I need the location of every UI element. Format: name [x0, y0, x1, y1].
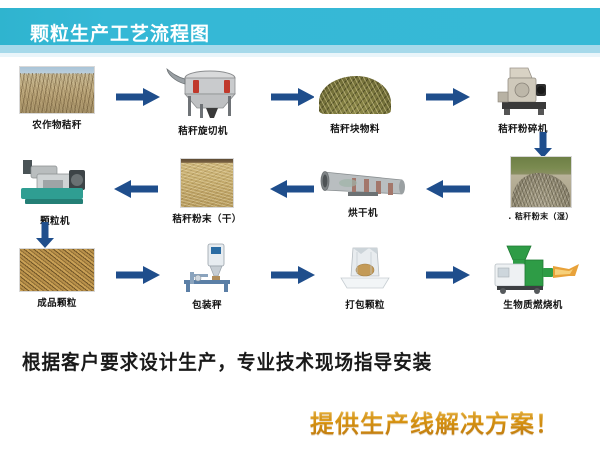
arrow-right-5	[271, 266, 315, 284]
flow-step-label: 打包颗粒	[310, 297, 420, 311]
flow-step-dryer: 烘干机	[308, 166, 418, 219]
straw-cutter-image	[162, 62, 244, 120]
flow-step-label: 秸秆粉末（干）	[152, 211, 262, 225]
flow-step-pellet-mill: 颗粒机	[0, 158, 110, 227]
dryer-image	[318, 166, 408, 202]
flow-step-finished-pellets: 成品颗粒	[2, 248, 112, 309]
arrow-right-6	[426, 266, 470, 284]
flow-step-dry-straw-powder: 秸秆粉末（干）	[152, 158, 262, 225]
flow-step-packing-scale: 包装秤	[152, 242, 262, 311]
flow-step-straw-crusher: 秸秆粉碎机	[468, 62, 578, 135]
flow-step-wet-straw-powder: . 秸秆粉末（湿）	[486, 156, 596, 222]
packed-pellets-image	[327, 242, 403, 294]
flow-step-straw-cutter: 秸秆旋切机	[148, 62, 258, 137]
footer-slogan: 提供生产线解决方案！	[310, 404, 590, 439]
arrow-right-3	[426, 88, 470, 106]
wet-straw-powder-image	[510, 156, 572, 208]
pellet-mill-image	[13, 158, 97, 210]
arrow-down-1	[534, 132, 552, 158]
arrow-down-2	[36, 222, 54, 248]
flow-step-label: 烘干机	[308, 205, 418, 219]
crop-straw-image	[19, 66, 95, 114]
page-title: 颗粒生产工艺流程图	[30, 19, 210, 46]
flow-step-label: 颗粒机	[0, 213, 110, 227]
flow-step-label: 生物质燃烧机	[478, 297, 588, 311]
flow-step-label: 包装秤	[152, 297, 262, 311]
straw-crusher-image	[484, 62, 562, 118]
flow-step-label: . 秸秆粉末（湿）	[486, 211, 596, 222]
arrow-left-1	[426, 180, 470, 198]
page-header-banner: 颗粒生产工艺流程图	[0, 8, 600, 45]
header-underline-shadow	[0, 53, 600, 57]
finished-pellets-image	[19, 248, 95, 292]
flow-step-label: 秸秆旋切机	[148, 123, 258, 137]
flow-step-label: 秸秆块物料	[300, 121, 410, 135]
flow-step-biomass-burner: 生物质燃烧机	[478, 244, 588, 311]
packing-scale-image	[168, 242, 246, 294]
biomass-burner-image	[485, 244, 581, 294]
flow-step-label: 农作物秸秆	[2, 117, 112, 131]
flow-step-label: 成品颗粒	[2, 295, 112, 309]
flow-step-straw-block: 秸秆块物料	[300, 64, 410, 135]
straw-block-image	[314, 64, 396, 118]
header-underline	[0, 45, 600, 53]
flow-step-crop-straw: 农作物秸秆	[2, 66, 112, 131]
dry-straw-powder-image	[180, 158, 234, 208]
flow-step-packed-pellets: 打包颗粒	[310, 242, 420, 311]
process-flow-diagram: 农作物秸秆 秸秆旋切机 秸秆块物料	[0, 62, 600, 330]
flow-step-label: 秸秆粉碎机	[468, 121, 578, 135]
footer-tagline: 根据客户要求设计生产，专业技术现场指导安装	[22, 346, 543, 375]
